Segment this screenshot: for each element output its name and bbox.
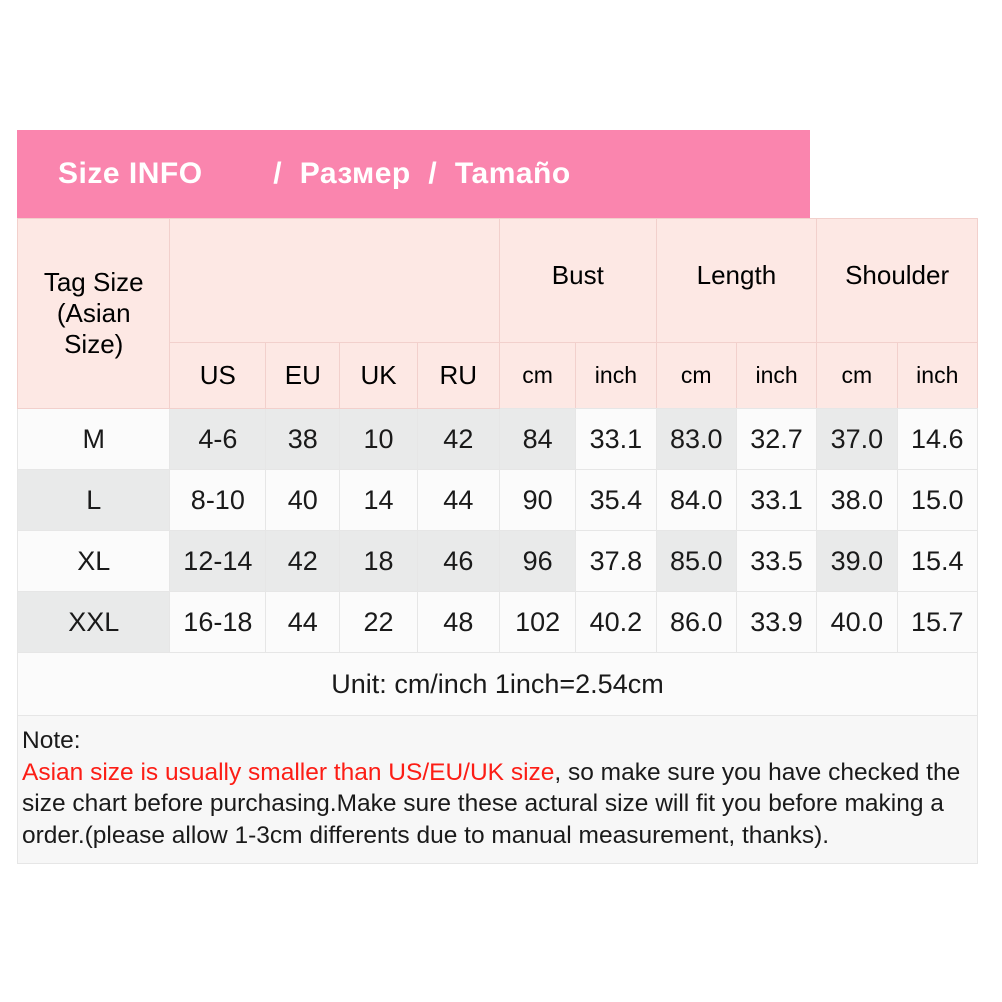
cell-bust-inch: 40.2 — [576, 592, 656, 653]
cell-bust-cm: 96 — [500, 531, 576, 592]
cell-tag-size: XL — [18, 531, 170, 592]
header-unit-shoulder-cm: cm — [817, 343, 897, 409]
cell-length-cm: 85.0 — [656, 531, 736, 592]
cell-tag-size: M — [18, 409, 170, 470]
table-body: M 4-6 38 10 42 84 33.1 83.0 32.7 37.0 14… — [18, 409, 978, 864]
header-tag-size: Tag Size (Asian Size) — [18, 219, 170, 409]
cell-ru: 48 — [417, 592, 499, 653]
size-chart: Size INFO / Размер / Tamaño Tag Size (As… — [17, 130, 978, 864]
cell-shoulder-inch: 15.0 — [897, 470, 977, 531]
header-region-eu: EU — [266, 343, 340, 409]
note-label: Note: — [22, 725, 973, 757]
header-unit-length-inch: inch — [736, 343, 816, 409]
cell-eu: 44 — [266, 592, 340, 653]
cell-bust-inch: 35.4 — [576, 470, 656, 531]
cell-shoulder-cm: 37.0 — [817, 409, 897, 470]
cell-bust-cm: 84 — [500, 409, 576, 470]
cell-us: 4-6 — [170, 409, 266, 470]
cell-shoulder-inch: 14.6 — [897, 409, 977, 470]
header-group-length: Length — [656, 219, 817, 343]
cell-uk: 18 — [340, 531, 417, 592]
unit-note-row: Unit: cm/inch 1inch=2.54cm — [18, 653, 978, 716]
header-region-uk: UK — [340, 343, 417, 409]
cell-uk: 14 — [340, 470, 417, 531]
cell-length-inch: 33.9 — [736, 592, 816, 653]
header-unit-shoulder-inch: inch — [897, 343, 977, 409]
table-row: M 4-6 38 10 42 84 33.1 83.0 32.7 37.0 14… — [18, 409, 978, 470]
cell-uk: 10 — [340, 409, 417, 470]
table-row: L 8-10 40 14 44 90 35.4 84.0 33.1 38.0 1… — [18, 470, 978, 531]
cell-ru: 46 — [417, 531, 499, 592]
note-highlight: Asian size is usually smaller than US/EU… — [22, 759, 554, 786]
cell-length-inch: 32.7 — [736, 409, 816, 470]
table-header: Tag Size (Asian Size) Bust Length Should… — [18, 219, 978, 409]
header-row-groups: Tag Size (Asian Size) Bust Length Should… — [18, 219, 978, 343]
cell-ru: 42 — [417, 409, 499, 470]
cell-shoulder-inch: 15.7 — [897, 592, 977, 653]
header-unit-bust-inch: inch — [576, 343, 656, 409]
table-row: XL 12-14 42 18 46 96 37.8 85.0 33.5 39.0… — [18, 531, 978, 592]
cell-length-cm: 83.0 — [656, 409, 736, 470]
cell-shoulder-cm: 40.0 — [817, 592, 897, 653]
header-region-us: US — [170, 343, 266, 409]
cell-us: 8-10 — [170, 470, 266, 531]
note-section: Note: Asian size is usually smaller than… — [18, 716, 978, 864]
cell-eu: 40 — [266, 470, 340, 531]
header-unit-length-cm: cm — [656, 343, 736, 409]
note-body: Asian size is usually smaller than US/EU… — [22, 757, 973, 852]
cell-shoulder-cm: 39.0 — [817, 531, 897, 592]
unit-note: Unit: cm/inch 1inch=2.54cm — [18, 653, 978, 716]
cell-us: 16-18 — [170, 592, 266, 653]
cell-shoulder-cm: 38.0 — [817, 470, 897, 531]
cell-us: 12-14 — [170, 531, 266, 592]
cell-length-inch: 33.1 — [736, 470, 816, 531]
cell-eu: 42 — [266, 531, 340, 592]
header-group-bust: Bust — [500, 219, 657, 343]
banner-title: Size INFO / Размер / Tamaño — [58, 157, 571, 191]
cell-length-cm: 86.0 — [656, 592, 736, 653]
cell-bust-inch: 37.8 — [576, 531, 656, 592]
cell-eu: 38 — [266, 409, 340, 470]
header-region-spacer — [170, 219, 500, 343]
header-region-ru: RU — [417, 343, 499, 409]
cell-length-cm: 84.0 — [656, 470, 736, 531]
cell-length-inch: 33.5 — [736, 531, 816, 592]
cell-tag-size: XXL — [18, 592, 170, 653]
note-row: Note: Asian size is usually smaller than… — [18, 716, 978, 864]
cell-bust-cm: 90 — [500, 470, 576, 531]
cell-shoulder-inch: 15.4 — [897, 531, 977, 592]
cell-uk: 22 — [340, 592, 417, 653]
header-group-shoulder: Shoulder — [817, 219, 978, 343]
cell-bust-inch: 33.1 — [576, 409, 656, 470]
cell-tag-size: L — [18, 470, 170, 531]
size-info-banner: Size INFO / Размер / Tamaño — [17, 130, 810, 218]
size-chart-table: Tag Size (Asian Size) Bust Length Should… — [17, 218, 978, 864]
table-row: XXL 16-18 44 22 48 102 40.2 86.0 33.9 40… — [18, 592, 978, 653]
header-unit-bust-cm: cm — [500, 343, 576, 409]
cell-bust-cm: 102 — [500, 592, 576, 653]
cell-ru: 44 — [417, 470, 499, 531]
